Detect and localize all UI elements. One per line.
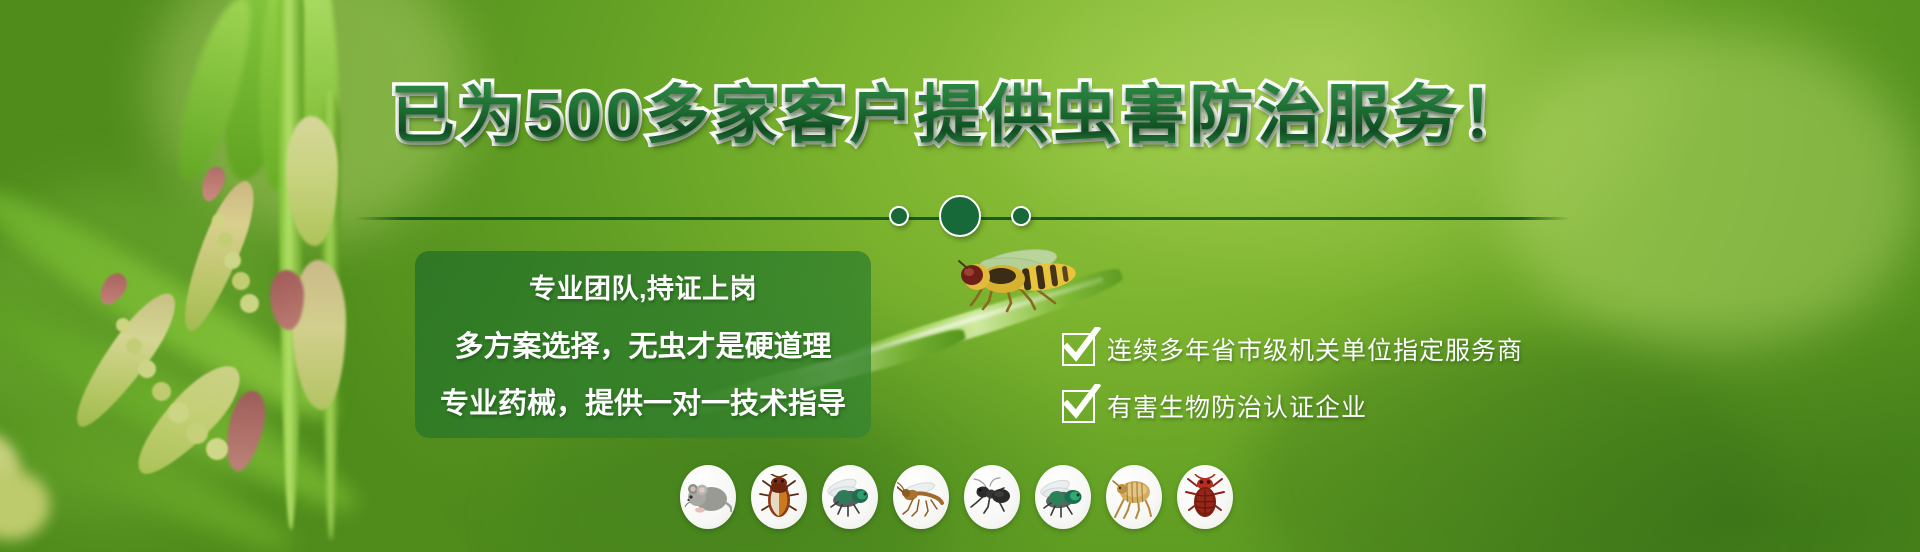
- cockroach-icon[interactable]: [751, 465, 807, 529]
- credential-label: 有害生物防治认证企业: [1107, 388, 1367, 424]
- credential-row: 有害生物防治认证企业: [1062, 388, 1523, 424]
- dot-small-right: [1011, 206, 1031, 226]
- slogan-line-1: 专业团队,持证上岗: [415, 267, 871, 306]
- dot-small-left: [889, 206, 909, 226]
- pest-control-banner: 已为500多家客户提供虫害防治服务！ 已为500多家客户提供虫害防治服务！ 专业…: [0, 0, 1920, 552]
- ant-icon[interactable]: [964, 465, 1020, 529]
- slogan-line-3: 专业药械，提供一对一技术指导: [415, 380, 871, 422]
- credential-row: 连续多年省市级机关单位指定服务商: [1062, 331, 1523, 367]
- page-title: 已为500多家客户提供虫害防治服务！: [0, 82, 1920, 149]
- blowfly-icon[interactable]: [1035, 465, 1091, 529]
- checkbox-check-icon: [1062, 390, 1095, 423]
- dot-large-center: [939, 195, 981, 237]
- credential-label: 连续多年省市级机关单位指定服务商: [1107, 331, 1523, 367]
- pest-icon-strip: [680, 465, 1233, 529]
- decorative-dots: [0, 195, 1920, 237]
- fly-icon[interactable]: [822, 465, 878, 529]
- flea-icon[interactable]: [1106, 465, 1162, 529]
- mouse-icon[interactable]: [680, 465, 736, 529]
- slogan-panel: 专业团队,持证上岗 多方案选择，无虫才是硬道理 专业药械，提供一对一技术指导: [415, 251, 871, 438]
- slogan-line-2: 多方案选择，无虫才是硬道理: [415, 323, 871, 365]
- bedbug-icon[interactable]: [1177, 465, 1233, 529]
- mosquito-icon[interactable]: [893, 465, 949, 529]
- credentials-list: 连续多年省市级机关单位指定服务商 有害生物防治认证企业: [1062, 331, 1523, 424]
- checkbox-check-icon: [1062, 333, 1095, 366]
